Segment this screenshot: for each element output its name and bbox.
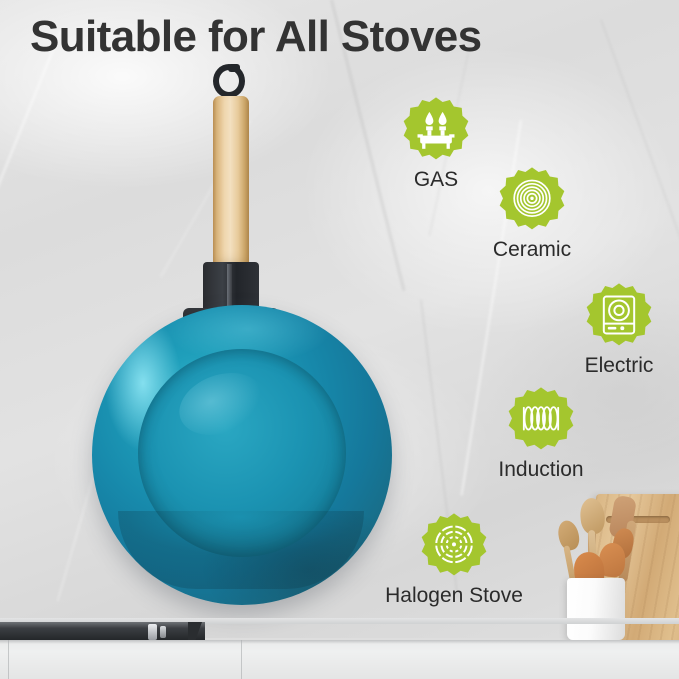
page-title: Suitable for All Stoves — [30, 12, 482, 62]
badge-halogen-stove: Halogen Stove — [358, 512, 550, 608]
kitchen-cabinets — [0, 640, 679, 679]
badge-label-electric: Electric — [550, 354, 679, 378]
marble-vein — [160, 120, 252, 277]
badge-electric: Electric — [550, 282, 679, 378]
badge-label-ceramic: Ceramic — [462, 238, 602, 262]
halogen-radial-icon — [421, 512, 487, 578]
cabinet-seam — [241, 640, 242, 679]
concentric-rings-icon — [499, 166, 565, 232]
badge-label-induction: Induction — [468, 458, 614, 482]
cabinet-seam — [8, 640, 9, 679]
utensil-crock — [567, 578, 625, 640]
cooktop-fitting — [160, 626, 166, 638]
badge-label-halogen-stove: Halogen Stove — [358, 584, 550, 608]
cooktop-fitting — [148, 624, 157, 640]
cabinet-shadow — [0, 640, 679, 644]
badge-ceramic: Ceramic — [462, 166, 602, 262]
cooktop-edge — [0, 622, 205, 640]
product-feature-image: Suitable for All Stoves — [0, 0, 679, 679]
marble-vein — [57, 380, 122, 602]
induction-coil-icon — [508, 386, 574, 452]
badge-induction: Induction — [468, 386, 614, 482]
cooktop-bevel — [188, 622, 216, 640]
marble-vein — [600, 19, 679, 264]
electric-cooktop-icon — [586, 282, 652, 348]
marble-vein — [0, 30, 62, 253]
gas-burner-icon — [403, 96, 469, 162]
